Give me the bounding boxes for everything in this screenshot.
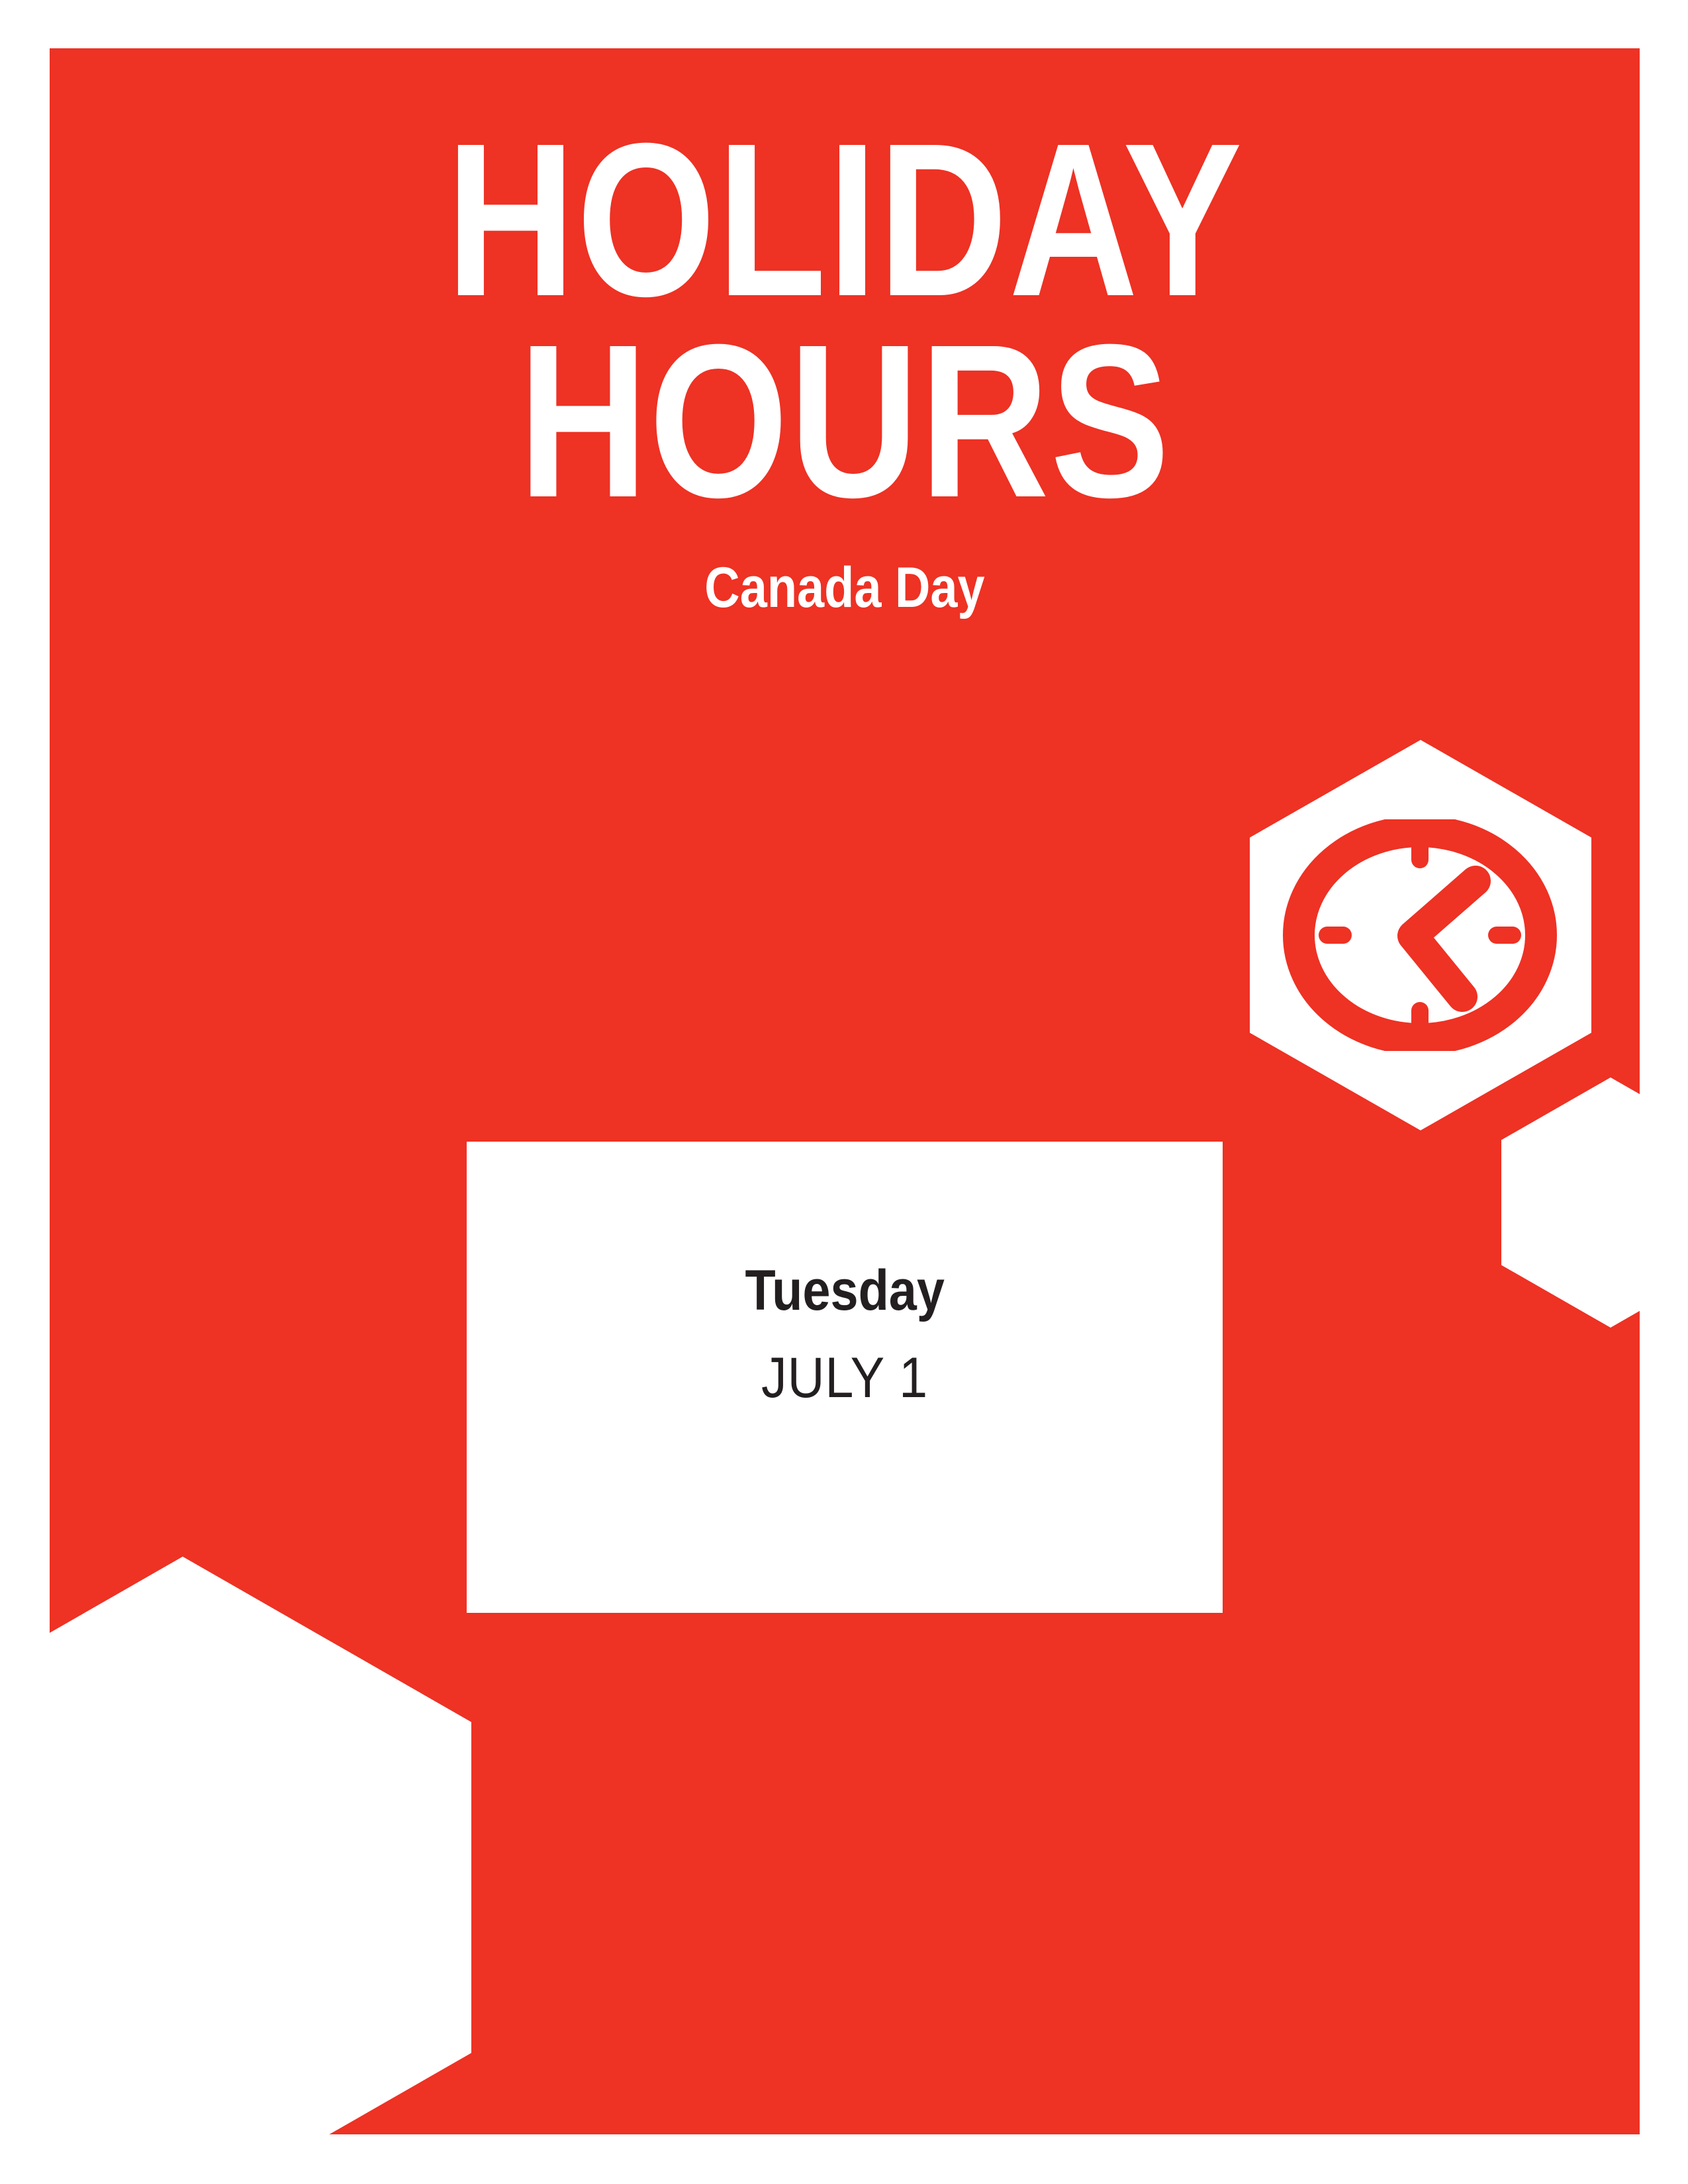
holiday-hours-poster: HOLIDAY HOURS Canada Day Tuesday JULY 1 bbox=[0, 0, 1688, 2184]
date-weekday: Tuesday bbox=[745, 1262, 944, 1319]
clock-icon bbox=[1283, 819, 1557, 1051]
date-value: JULY 1 bbox=[761, 1349, 928, 1406]
date-card: Tuesday JULY 1 bbox=[467, 1142, 1223, 1613]
